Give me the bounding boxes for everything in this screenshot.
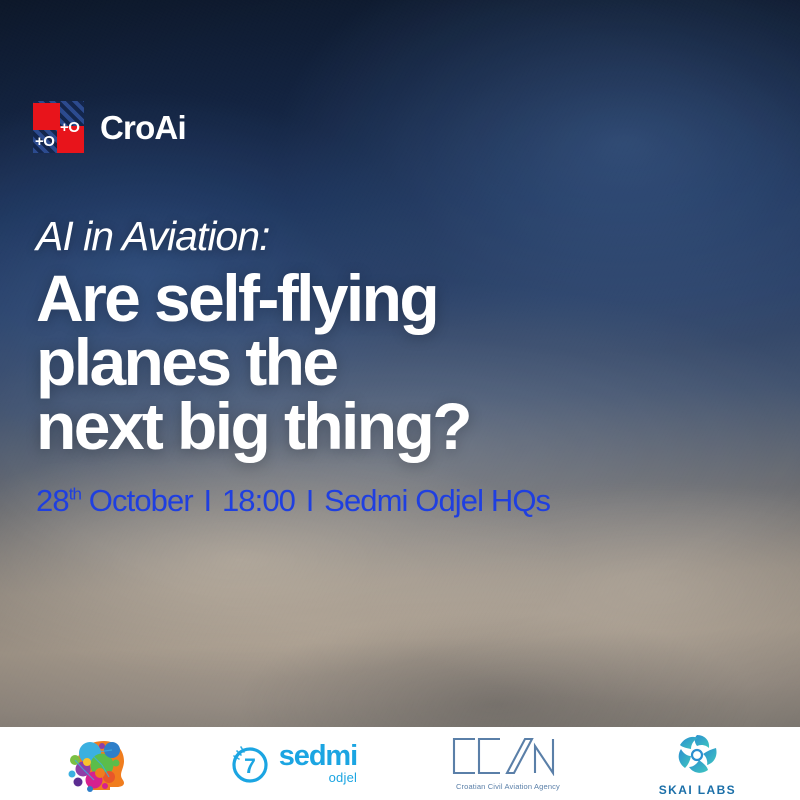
croai-checker-squares-icon: +O +O — [33, 101, 84, 153]
skai-labs-label: SKAI LABS — [659, 784, 736, 796]
colorful-head-profile-icon — [64, 733, 136, 795]
croatian-civil-aviation-agency-logo: Croatian Civil Aviation Agency — [449, 727, 567, 800]
headline-block: AI in Aviation: Are self-flying planes t… — [36, 215, 676, 518]
sedmi-label: sedmi — [279, 743, 357, 771]
seven-in-circle-icon: 7 — [228, 742, 272, 786]
odjel-label: odjel — [279, 771, 357, 784]
event-time: 18:00 — [222, 483, 295, 518]
skai-labs-logo: SKAI LABS — [659, 727, 736, 800]
brand-name: CroAi — [100, 111, 186, 144]
event-separator-1: I — [201, 483, 215, 518]
partner-logo-bar: 7 sedmi odjel — [0, 727, 800, 800]
sedmi-odjel-wordmark: sedmi odjel — [279, 743, 357, 784]
plus-o-symbol-lower: +O — [35, 134, 54, 149]
event-details: 28th October I 18:00 I Sedmi Odjel HQs — [36, 484, 676, 518]
event-day-ordinal: th — [69, 485, 81, 504]
ccaa-monogram-icon — [449, 736, 567, 776]
event-day: 28 — [36, 483, 69, 518]
sedmi-odjel-logo: 7 sedmi odjel — [228, 727, 357, 800]
eyebrow-text: AI in Aviation: — [36, 215, 676, 258]
headline-line-3: next big thing? — [36, 394, 676, 458]
brand-lockup: +O +O CroAi — [33, 101, 186, 153]
svg-text:7: 7 — [244, 755, 256, 778]
event-separator-2: I — [303, 483, 317, 518]
event-poster: +O +O CroAi AI in Aviation: Are self-fly… — [0, 0, 800, 800]
event-venue: Sedmi Odjel HQs — [324, 483, 550, 518]
croai-brain-head-logo — [64, 727, 136, 800]
ccaa-subtitle: Croatian Civil Aviation Agency — [449, 783, 567, 791]
headline-line-1: Are self-flying — [36, 266, 676, 330]
page-title: Are self-flying planes the next big thin… — [36, 266, 676, 458]
headline-line-2: planes the — [36, 330, 676, 394]
plus-o-symbol-upper: +O — [60, 120, 79, 135]
aperture-pinwheel-icon — [674, 732, 720, 778]
red-square-top-left — [33, 103, 60, 130]
event-month: October — [89, 483, 193, 518]
